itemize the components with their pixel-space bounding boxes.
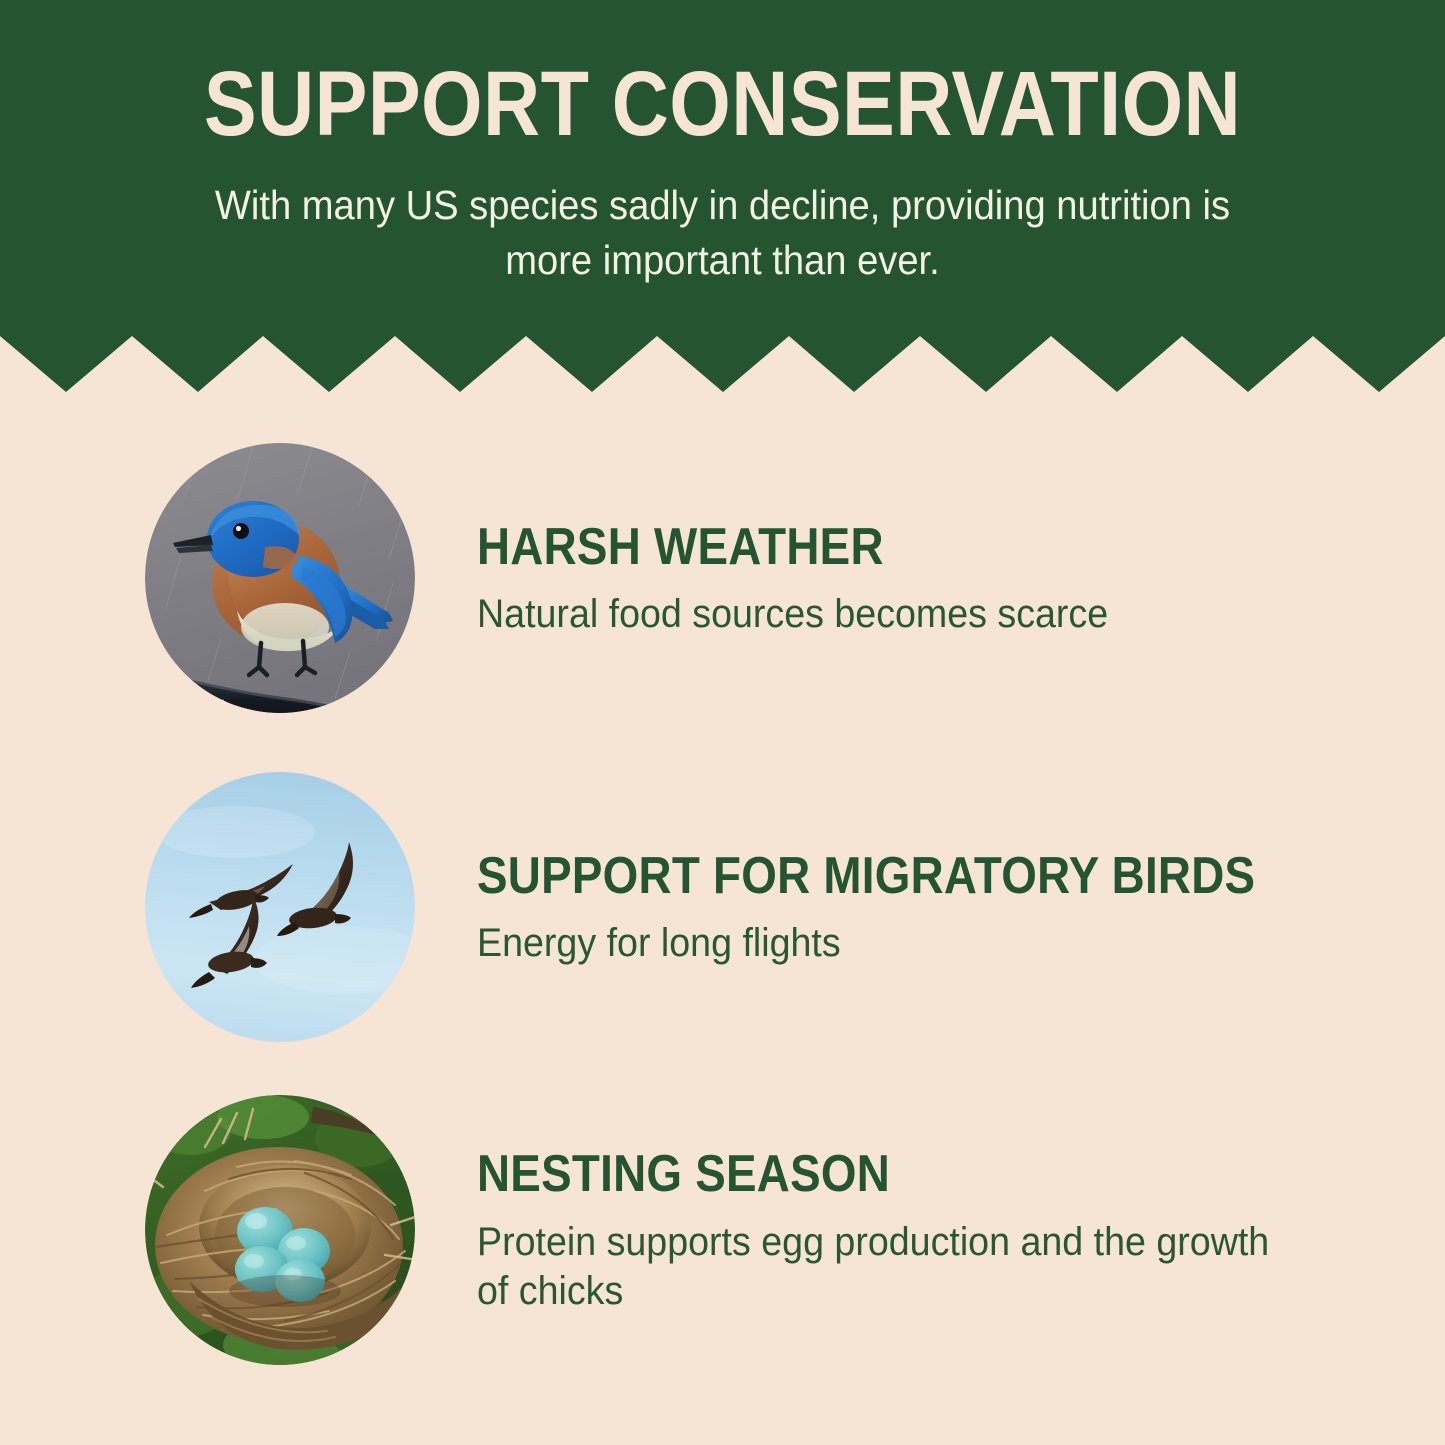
feature-title: NESTING SEASON bbox=[477, 1148, 1241, 1201]
feature-text: NESTING SEASON Protein supports egg prod… bbox=[477, 1144, 1345, 1315]
feature-text: SUPPORT FOR MIGRATORY BIRDS Energy for l… bbox=[477, 846, 1361, 968]
bluebird-on-branch-photo bbox=[145, 443, 415, 713]
feature-description: Energy for long flights bbox=[477, 919, 1304, 968]
nest-with-blue-eggs-photo bbox=[145, 1095, 415, 1365]
feature-description: Protein supports egg production and the … bbox=[477, 1218, 1293, 1316]
feature-text: HARSH WEATHER Natural food sources becom… bbox=[477, 517, 1345, 639]
feature-title: HARSH WEATHER bbox=[477, 521, 1241, 574]
feature-description: Natural food sources becomes scarce bbox=[477, 590, 1293, 639]
feature-row: HARSH WEATHER Natural food sources becom… bbox=[145, 443, 1345, 713]
feature-row: NESTING SEASON Protein supports egg prod… bbox=[145, 1095, 1345, 1365]
feature-row: SUPPORT FOR MIGRATORY BIRDS Energy for l… bbox=[145, 772, 1345, 1042]
page-subtitle: With many US species sadly in decline, p… bbox=[199, 178, 1245, 288]
migrating-birds-in-sky-photo bbox=[145, 772, 415, 1042]
feature-title: SUPPORT FOR MIGRATORY BIRDS bbox=[477, 850, 1255, 903]
page-title: SUPPORT CONSERVATION bbox=[101, 58, 1344, 150]
